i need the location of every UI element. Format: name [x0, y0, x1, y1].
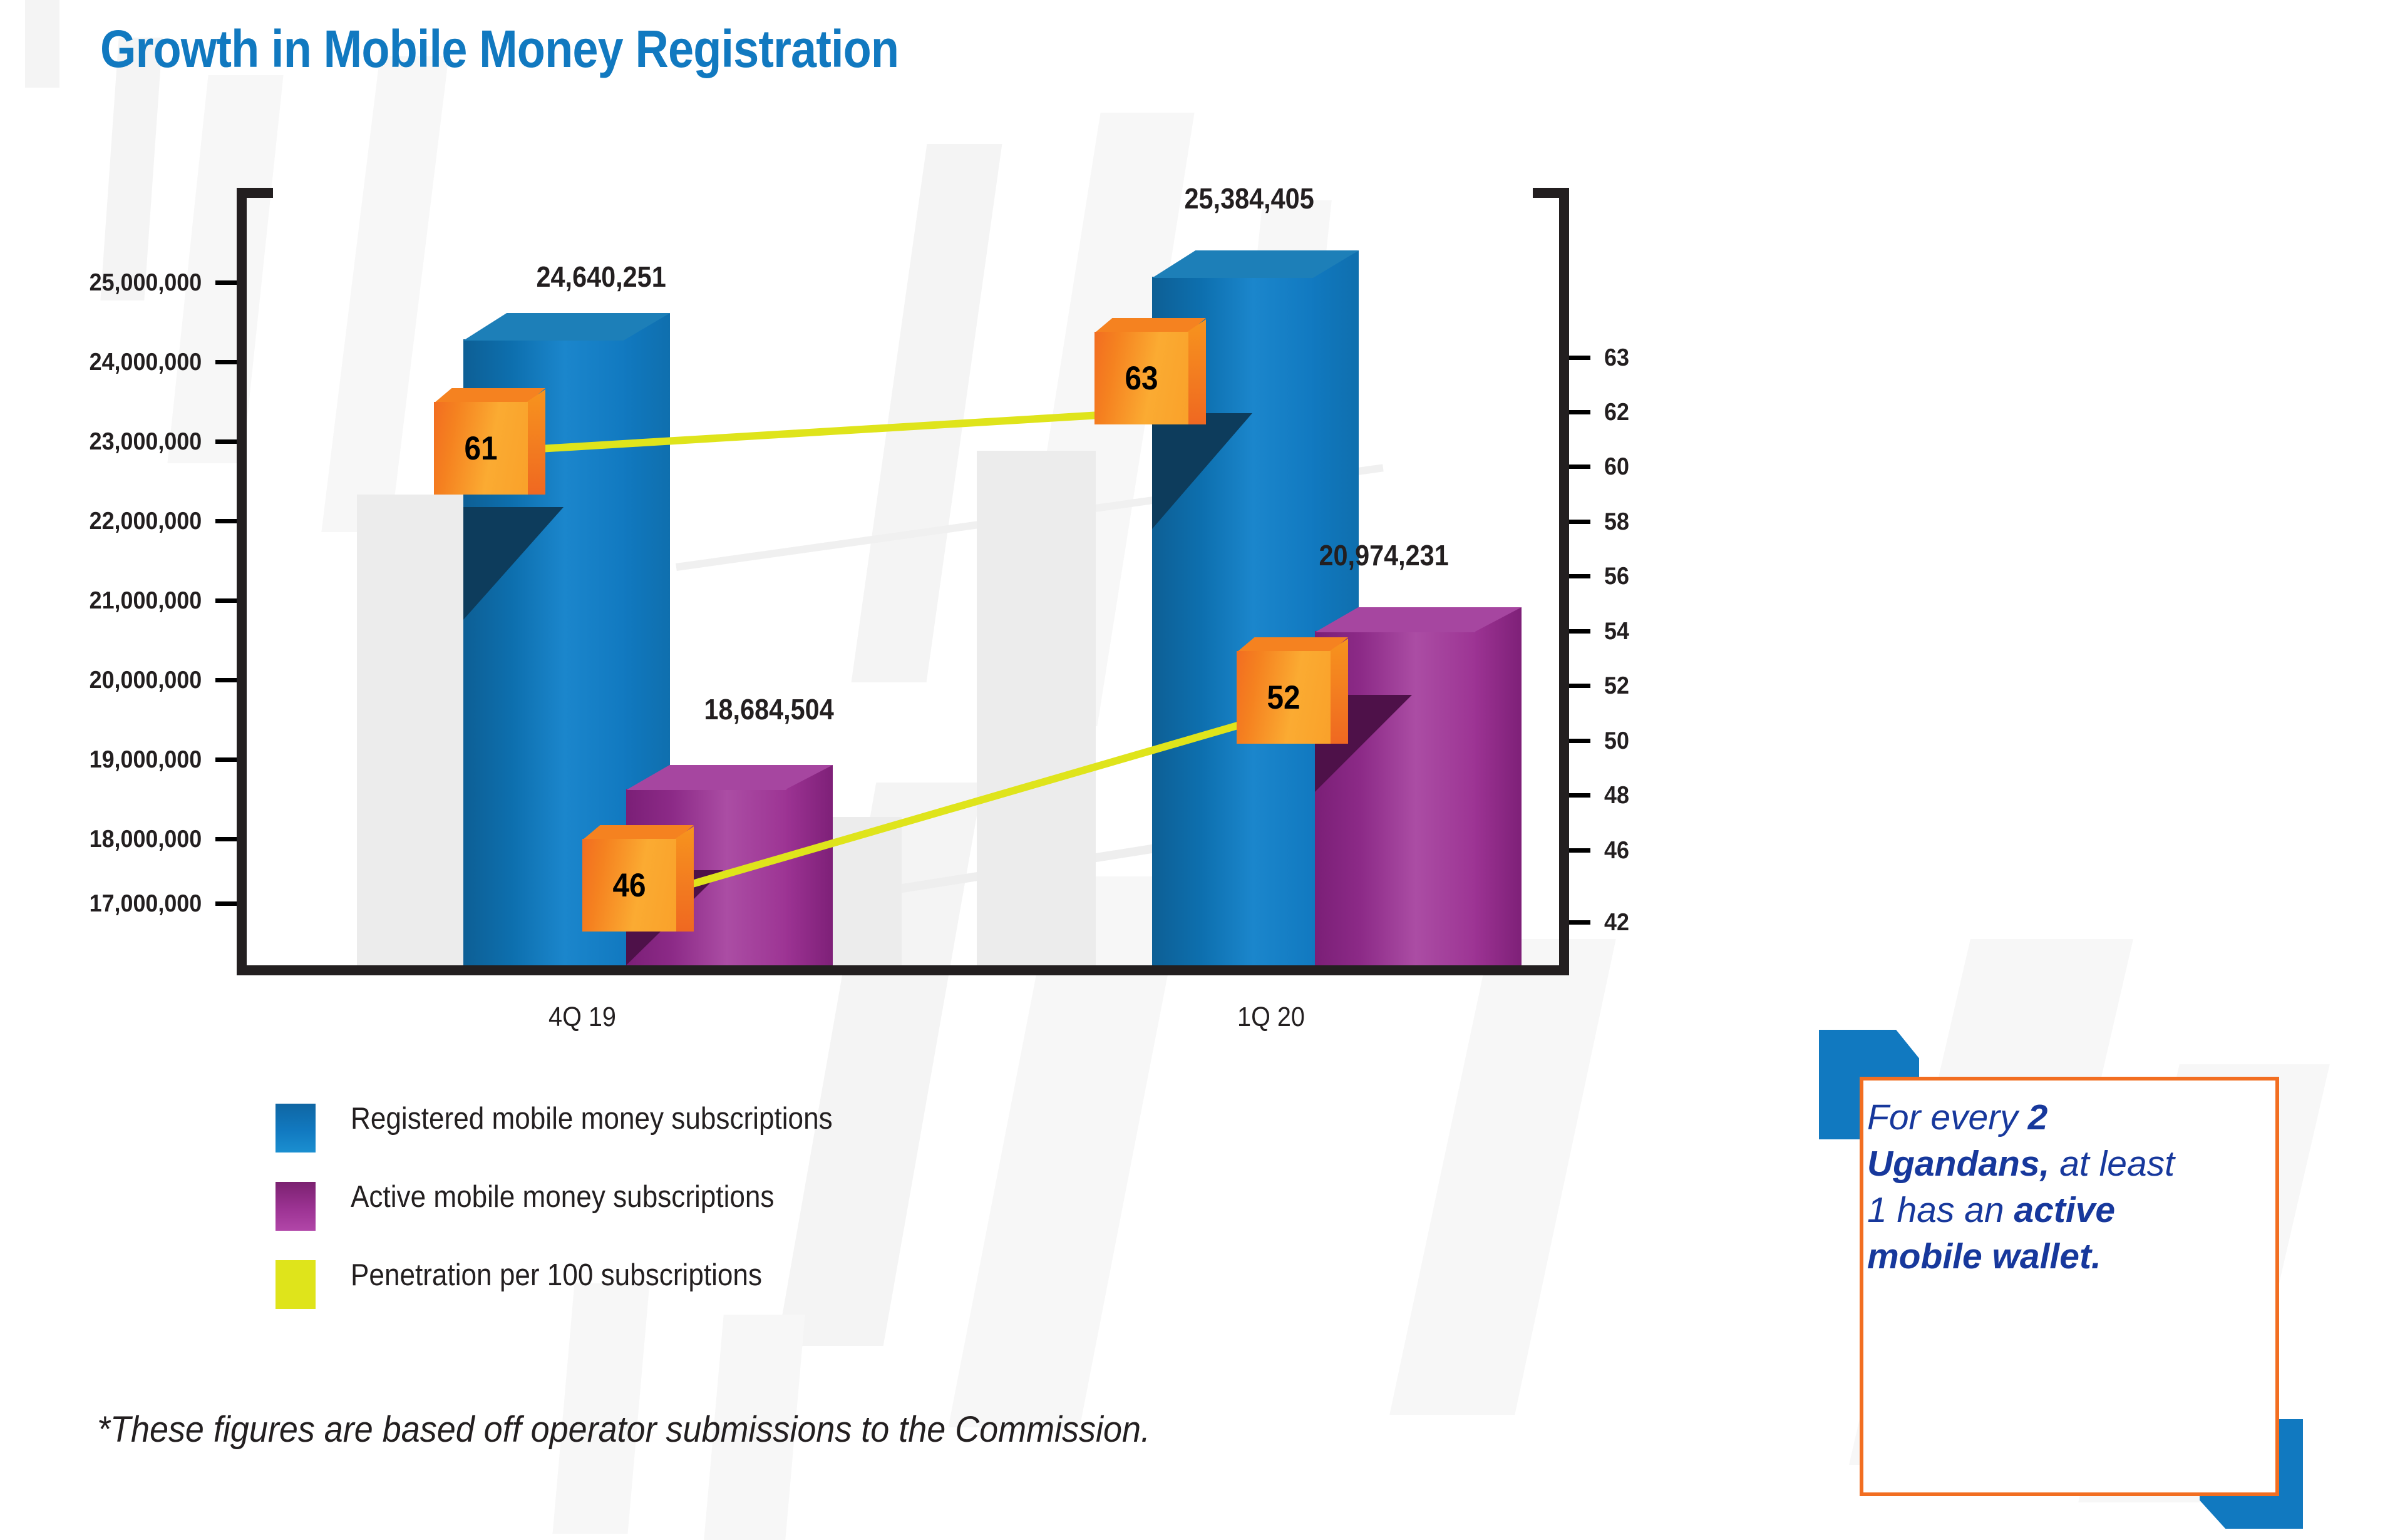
callout-seg-bold: active — [2014, 1190, 2116, 1230]
y-tick-label: 19,000,000 — [89, 746, 202, 774]
y-axis-left — [237, 188, 247, 975]
y-tick-label: 24,000,000 — [89, 349, 202, 376]
y-axis-left-ticks: 25,000,000 24,000,000 23,000,000 22,000,… — [0, 0, 237, 1538]
y-tick — [1569, 793, 1590, 798]
legend-swatch-blue — [276, 1104, 316, 1152]
legend-label: Penetration per 100 subscriptions — [351, 1258, 762, 1293]
callout-text: For every 2Ugandans, at least1 has an ac… — [1867, 1094, 2260, 1280]
ghost-bar — [357, 495, 457, 965]
y-tick-label: 42 — [1604, 909, 1629, 937]
y-tick — [1569, 739, 1590, 743]
y-tick-label: 63 — [1604, 344, 1629, 372]
y-tick — [215, 678, 237, 682]
marker-side-face — [1329, 639, 1348, 744]
y-tick-label: 60 — [1604, 453, 1629, 481]
y-tick-label: 46 — [1604, 837, 1629, 865]
y-tick-label: 22,000,000 — [89, 508, 202, 535]
penetration-marker-63: 63 — [1094, 332, 1188, 424]
callout-seg-bold: mobile wallet. — [1867, 1236, 2101, 1276]
penetration-value: 61 — [439, 402, 523, 495]
y-tick-label: 21,000,000 — [89, 587, 202, 615]
y-tick-label: 23,000,000 — [89, 428, 202, 456]
y-tick — [215, 901, 237, 906]
y-tick-label: 54 — [1604, 618, 1629, 645]
y-axis-right — [1559, 188, 1569, 975]
bar-side-face — [1475, 607, 1522, 965]
footnote: *These figures are based off operator su… — [97, 1409, 1150, 1450]
marker-side-face — [1187, 319, 1206, 424]
y-tick-label: 52 — [1604, 672, 1629, 700]
marker-side-face — [675, 826, 694, 932]
x-axis-label-1q20: 1Q 20 — [1237, 1002, 1305, 1033]
y-tick-label: 62 — [1604, 399, 1629, 426]
callout-seg: 1 has an — [1867, 1190, 2014, 1230]
y-tick — [215, 757, 237, 762]
callout-seg: For every — [1867, 1097, 2028, 1137]
legend-label: Active mobile money subscriptions — [351, 1179, 774, 1214]
y-tick — [1569, 520, 1590, 524]
ghost-bar — [977, 451, 1096, 965]
penetration-value: 52 — [1242, 651, 1326, 744]
x-axis-label-4q19: 4Q 19 — [548, 1002, 616, 1033]
y-tick — [215, 439, 237, 444]
y-tick — [215, 837, 237, 841]
bar-value-label-reg-1q20: 25,384,405 — [1185, 182, 1314, 215]
callout-seg-bold: Ugandans, — [1867, 1144, 2049, 1184]
y-tick — [1569, 356, 1590, 360]
y-tick — [215, 280, 237, 285]
legend-swatch-yellow — [276, 1260, 316, 1309]
bar-value-label-reg-4q19: 24,640,251 — [537, 260, 666, 294]
bar-value-label-act-1q20: 20,974,231 — [1319, 538, 1449, 572]
watermark-shape — [321, 56, 448, 532]
y-tick — [215, 519, 237, 523]
penetration-marker-52: 52 — [1237, 651, 1331, 744]
y-tick-label: 58 — [1604, 508, 1629, 536]
x-axis-baseline — [247, 965, 1560, 975]
legend-swatch-purple — [276, 1182, 316, 1231]
penetration-marker-46: 46 — [582, 839, 676, 932]
y-tick-label: 20,000,000 — [89, 667, 202, 694]
y-tick-label: 25,000,000 — [89, 269, 202, 297]
y-axis-left-top-cap — [237, 188, 273, 198]
y-axis-right-ticks: 63 62 60 58 56 54 52 50 48 46 42 — [1569, 0, 1820, 1538]
y-tick-label: 56 — [1604, 563, 1629, 590]
penetration-value: 63 — [1100, 332, 1184, 424]
marker-side-face — [527, 389, 545, 495]
callout-seg-bold: 2 — [2028, 1097, 2048, 1137]
y-tick — [215, 360, 237, 364]
y-tick — [1569, 920, 1590, 925]
legend-label: Registered mobile money subscriptions — [351, 1101, 833, 1136]
y-tick — [1569, 410, 1590, 414]
y-tick — [1569, 465, 1590, 469]
y-tick — [215, 598, 237, 603]
penetration-value: 46 — [587, 839, 672, 932]
y-tick-label: 50 — [1604, 727, 1629, 755]
bar-value-label-act-4q19: 18,684,504 — [704, 692, 834, 726]
y-axis-right-top-cap — [1533, 188, 1569, 198]
y-tick — [1569, 574, 1590, 578]
y-tick-label: 18,000,000 — [89, 826, 202, 853]
y-tick-label: 17,000,000 — [89, 890, 202, 918]
slide-canvas: Growth in Mobile Money Registration — [0, 0, 2405, 1538]
y-tick — [1569, 848, 1590, 853]
y-tick — [1569, 684, 1590, 688]
callout-box: For every 2Ugandans, at least1 has an ac… — [1841, 1058, 2279, 1496]
y-tick-label: 48 — [1604, 782, 1629, 809]
y-tick — [1569, 629, 1590, 634]
penetration-marker-61: 61 — [434, 402, 528, 495]
callout-seg: at least — [2049, 1144, 2175, 1184]
bar-side-face — [786, 765, 833, 965]
